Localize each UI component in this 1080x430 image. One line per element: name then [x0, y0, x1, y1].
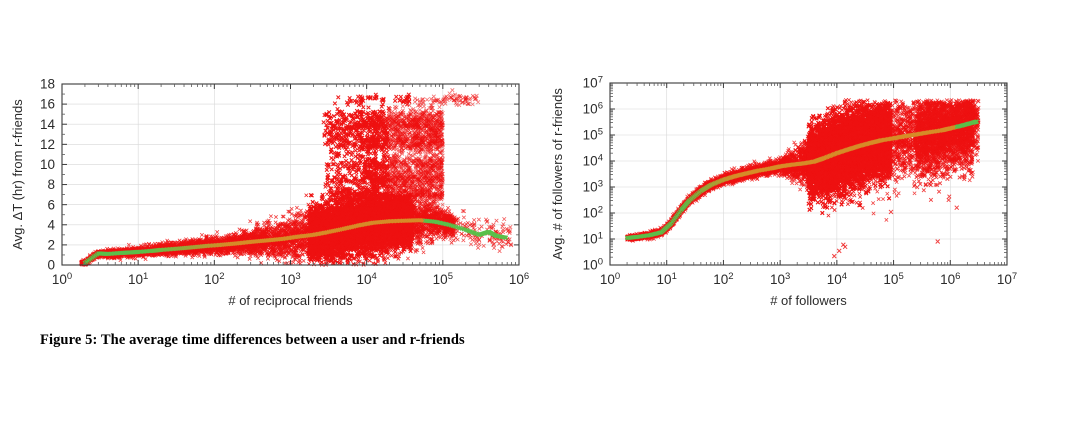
- svg-text:103: 103: [280, 271, 300, 287]
- figure-5-caption: Figure 5: The average time differences b…: [40, 330, 510, 351]
- svg-text:106: 106: [583, 101, 603, 117]
- svg-text:2: 2: [47, 237, 55, 252]
- svg-text:14: 14: [40, 117, 56, 132]
- svg-text:105: 105: [883, 271, 903, 287]
- figure-6-svg: 1001011021031041051061071001011021031041…: [540, 58, 1080, 308]
- figure-page: 024681012141618100101102103104105106# of…: [0, 0, 1080, 430]
- figure-5-caption-label: Figure 5:: [40, 332, 97, 348]
- figure-6-scatter-points: [625, 98, 980, 258]
- figure-5-scatter-points: [79, 88, 513, 266]
- svg-text:104: 104: [357, 271, 377, 287]
- svg-text:18: 18: [40, 77, 55, 92]
- figure-6-y-axis-title: Avg. # of followers of r-friends: [550, 88, 565, 260]
- svg-text:107: 107: [997, 271, 1017, 287]
- svg-text:6: 6: [47, 197, 55, 212]
- figure-6-plot: 1001011021031041051061071001011021031041…: [540, 58, 1080, 308]
- svg-text:106: 106: [940, 271, 960, 287]
- svg-text:101: 101: [583, 231, 603, 247]
- svg-text:0: 0: [47, 258, 55, 273]
- svg-text:16: 16: [40, 97, 55, 112]
- figure-5-block: 024681012141618100101102103104105106# of…: [0, 0, 540, 430]
- svg-text:104: 104: [583, 153, 603, 169]
- figure-6-x-axis-title: # of followers: [770, 293, 847, 308]
- svg-text:102: 102: [583, 205, 603, 221]
- svg-text:4: 4: [47, 217, 55, 232]
- figure-5-caption-text: The average time differences between a u…: [101, 332, 465, 348]
- svg-text:106: 106: [509, 271, 529, 287]
- svg-text:104: 104: [827, 271, 847, 287]
- svg-text:10: 10: [40, 157, 55, 172]
- svg-text:8: 8: [47, 177, 55, 192]
- svg-text:102: 102: [713, 271, 733, 287]
- svg-text:101: 101: [128, 271, 148, 287]
- svg-text:102: 102: [204, 271, 224, 287]
- svg-text:100: 100: [52, 271, 72, 287]
- figure-5-plot: 024681012141618100101102103104105106# of…: [0, 58, 540, 308]
- svg-text:101: 101: [657, 271, 677, 287]
- figure-5-x-axis-title: # of reciprocal friends: [228, 293, 353, 308]
- svg-text:12: 12: [40, 137, 55, 152]
- svg-text:105: 105: [583, 127, 603, 143]
- figure-5-svg: 024681012141618100101102103104105106# of…: [0, 58, 540, 308]
- svg-text:100: 100: [583, 257, 603, 273]
- svg-text:100: 100: [600, 271, 620, 287]
- svg-text:107: 107: [583, 75, 603, 91]
- svg-text:103: 103: [770, 271, 790, 287]
- figure-6-block: 1001011021031041051061071001011021031041…: [540, 0, 1080, 430]
- figure-row: 024681012141618100101102103104105106# of…: [0, 0, 1080, 430]
- figure-5-y-axis-title: Avg. ΔT (hr) from r-friends: [10, 99, 25, 250]
- svg-text:103: 103: [583, 179, 603, 195]
- svg-text:105: 105: [433, 271, 453, 287]
